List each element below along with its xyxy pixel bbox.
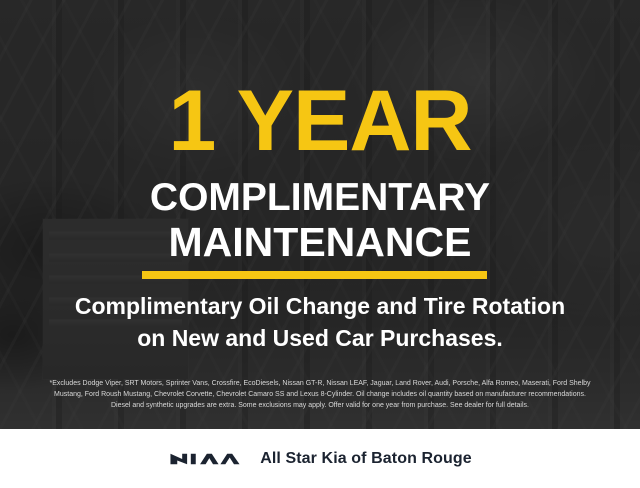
headline-complimentary: COMPLIMENTARY — [0, 178, 640, 217]
headline-year: 1 YEAR — [0, 78, 640, 164]
dealer-footer: All Star Kia of Baton Rouge — [0, 429, 640, 488]
subheadline-line-1: Complimentary Oil Change and Tire Rotati… — [0, 295, 640, 318]
headline-maintenance: MAINTENANCE — [0, 222, 640, 263]
hero-banner: 1 YEAR COMPLIMENTARY MAINTENANCE Complim… — [0, 0, 640, 429]
kia-logo-icon — [168, 449, 242, 469]
disclaimer-line-2: Mustang, Ford Roush Mustang, Chevrolet C… — [12, 389, 628, 400]
promotional-advertisement: 1 YEAR COMPLIMENTARY MAINTENANCE Complim… — [0, 0, 640, 488]
dealer-name: All Star Kia of Baton Rouge — [260, 450, 472, 468]
disclaimer-line-3: Diesel and synthetic upgrades are extra.… — [12, 400, 628, 411]
disclaimer-line-1: *Excludes Dodge Viper, SRT Motors, Sprin… — [12, 378, 628, 389]
disclaimer-text: *Excludes Dodge Viper, SRT Motors, Sprin… — [12, 378, 628, 411]
hero-content: 1 YEAR COMPLIMENTARY MAINTENANCE Complim… — [0, 0, 640, 429]
yellow-divider-bar — [142, 271, 487, 279]
subheadline-line-2: on New and Used Car Purchases. — [0, 327, 640, 350]
